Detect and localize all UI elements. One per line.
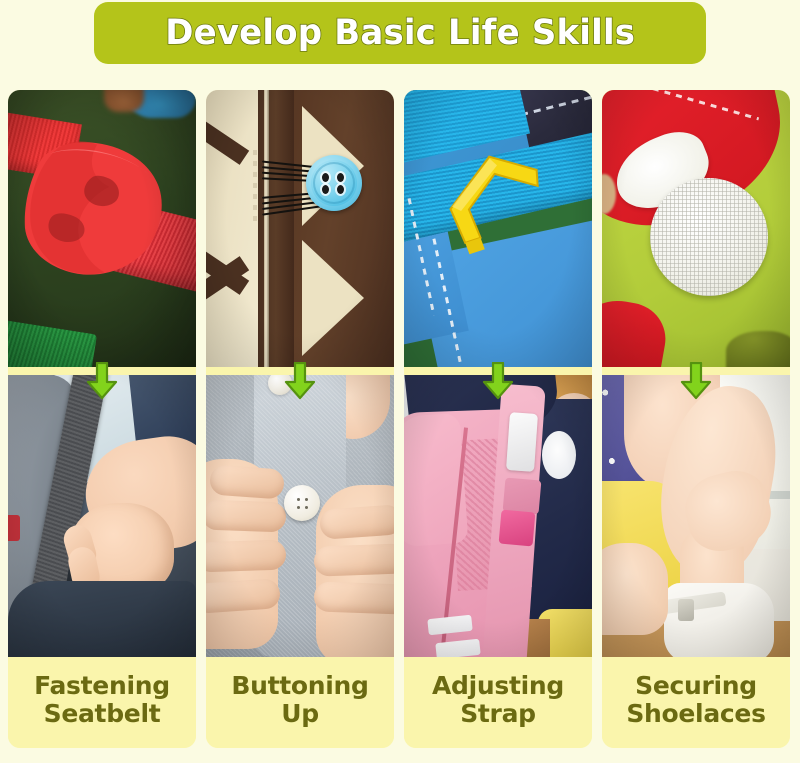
photo-strap-buckle-closeup xyxy=(404,90,592,367)
down-arrow-icon xyxy=(283,362,317,400)
card-label-fastening-seatbelt: Fastening Seatbelt xyxy=(8,657,196,748)
strap-adjuster xyxy=(499,510,536,547)
photo-buckle-closeup xyxy=(8,90,196,367)
skill-card-buttoning-up[interactable]: Buttoning Up xyxy=(206,90,394,748)
photo-child-seatbelt xyxy=(8,375,196,657)
blue-button-shape xyxy=(306,155,362,211)
skill-card-securing-shoelaces[interactable]: Securing Shoelaces xyxy=(602,90,790,748)
header-banner: Develop Basic Life Skills xyxy=(94,2,706,64)
photo-child-buttoning xyxy=(206,375,394,657)
label-text: Fastening Seatbelt xyxy=(34,672,170,728)
label-text: Buttoning Up xyxy=(231,672,368,728)
down-arrow-icon xyxy=(679,362,713,400)
card-label-buttoning-up: Buttoning Up xyxy=(206,657,394,748)
life-skills-infographic: { "header": { "title": "Develop Basic Li… xyxy=(0,0,800,763)
velcro-patch-shape xyxy=(650,178,768,296)
header: Develop Basic Life Skills xyxy=(0,0,800,90)
down-arrow-icon xyxy=(85,362,119,400)
card-label-securing-shoelaces: Securing Shoelaces xyxy=(602,657,790,748)
label-text: Securing Shoelaces xyxy=(626,672,765,728)
skill-card-grid: Fastening Seatbelt xyxy=(8,90,792,750)
yellow-buckle-shape xyxy=(435,139,560,265)
label-text: Adjusting Strap xyxy=(432,672,564,728)
skill-card-adjusting-strap[interactable]: Adjusting Strap xyxy=(404,90,592,748)
photo-child-sandal xyxy=(602,375,790,657)
photo-velcro-closeup xyxy=(602,90,790,367)
card-label-adjusting-strap: Adjusting Strap xyxy=(404,657,592,748)
photo-child-backpack xyxy=(404,375,592,657)
photo-button-closeup xyxy=(206,90,394,367)
strap-slider-buckle xyxy=(506,412,538,472)
skill-card-fastening-seatbelt[interactable]: Fastening Seatbelt xyxy=(8,90,196,748)
white-button-shape xyxy=(284,485,320,521)
down-arrow-icon xyxy=(481,362,515,400)
page-title: Develop Basic Life Skills xyxy=(165,13,635,53)
